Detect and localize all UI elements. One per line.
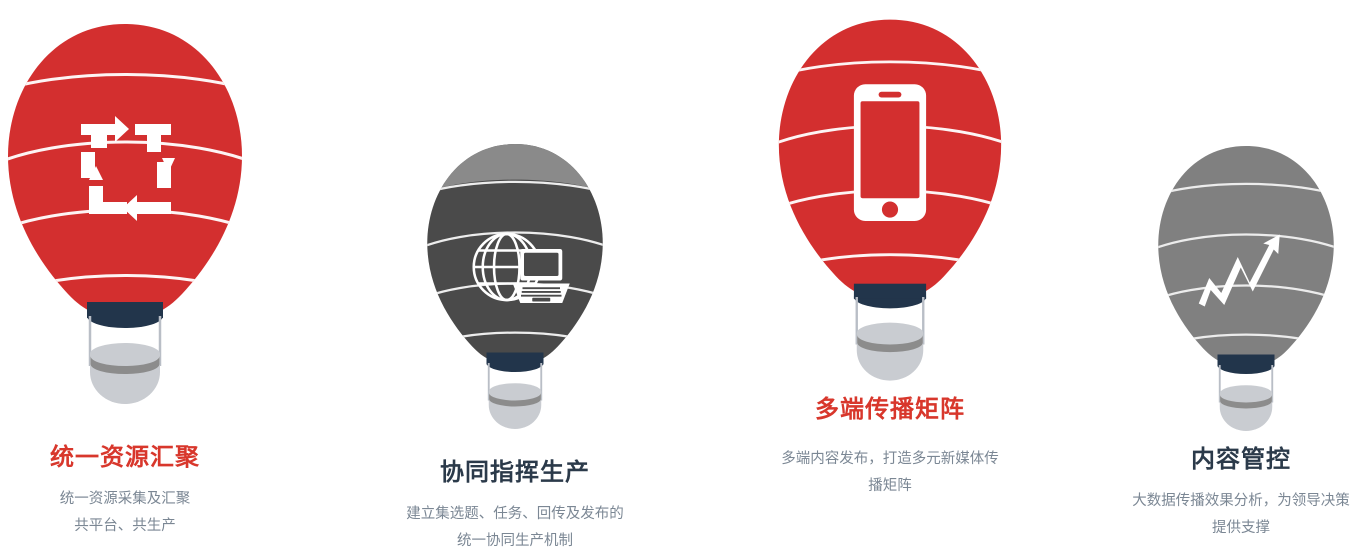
feature-caption: 内容管控 大数据传播效果分析，为领导决策 提供支撑 <box>1091 442 1371 542</box>
balloon-svg <box>390 138 640 438</box>
feature-description: 统一资源采集及汇聚 共平台、共生产 <box>0 486 250 540</box>
feature-description-line-2: 提供支撑 <box>1091 515 1371 542</box>
balloon-basket-rim <box>1220 385 1273 402</box>
feature-description-line-1: 统一资源采集及汇聚 <box>0 486 250 513</box>
feature-description-line-1: 多端内容发布，打造多元新媒体传 <box>740 446 1040 473</box>
feature-title: 统一资源汇聚 <box>0 440 250 476</box>
balloon-svg <box>765 12 1015 392</box>
laptop-glyph <box>513 249 570 303</box>
feature-description: 多端内容发布，打造多元新媒体传 播矩阵 <box>740 446 1040 500</box>
feature-description-line-2: 统一协同生产机制 <box>365 528 665 555</box>
hot-air-balloon-graphic <box>0 16 250 421</box>
feature-caption: 多端传播矩阵 多端内容发布，打造多元新媒体传 播矩阵 <box>740 392 1040 500</box>
balloon-basket-rim <box>489 383 542 400</box>
feature-card-unified-resource-aggregation[interactable]: 统一资源汇聚 统一资源采集及汇聚 共平台、共生产 <box>0 0 250 553</box>
feature-description-line-2: 播矩阵 <box>740 473 1040 500</box>
feature-description-line-2: 共平台、共生产 <box>0 513 250 540</box>
feature-title: 内容管控 <box>1091 442 1371 478</box>
balloon-svg <box>0 16 250 416</box>
feature-description-line-1: 建立集选题、任务、回传及发布的 <box>365 501 665 528</box>
hot-air-balloon-graphic <box>390 138 640 443</box>
feature-caption: 协同指挥生产 建立集选题、任务、回传及发布的 统一协同生产机制 <box>365 455 665 555</box>
feature-caption: 统一资源汇聚 统一资源采集及汇聚 共平台、共生产 <box>0 440 250 540</box>
balloon-basket-rim <box>90 343 160 365</box>
feature-card-collaborative-production[interactable]: 协同指挥生产 建立集选题、任务、回传及发布的 统一协同生产机制 <box>390 0 640 553</box>
hot-air-balloon-graphic <box>765 12 1015 397</box>
balloon-envelope <box>1158 146 1334 367</box>
balloon-envelope <box>8 24 242 318</box>
feature-title: 多端传播矩阵 <box>740 392 1040 428</box>
feature-card-content-governance[interactable]: 内容管控 大数据传播效果分析，为领导决策 提供支撑 <box>1121 0 1371 553</box>
balloon-svg <box>1121 140 1371 440</box>
smartphone-icon <box>854 84 926 221</box>
balloon-basket-rim <box>857 323 924 344</box>
hot-air-balloon-graphic <box>1121 140 1371 445</box>
feature-balloons-section: 统一资源汇聚 统一资源采集及汇聚 共平台、共生产 <box>0 0 1371 553</box>
feature-description: 建立集选题、任务、回传及发布的 统一协同生产机制 <box>365 501 665 555</box>
feature-card-multi-channel-matrix[interactable]: 多端传播矩阵 多端内容发布，打造多元新媒体传 播矩阵 <box>765 0 1015 553</box>
feature-title: 协同指挥生产 <box>365 455 665 491</box>
feature-description: 大数据传播效果分析，为领导决策 提供支撑 <box>1091 488 1371 542</box>
feature-description-line-1: 大数据传播效果分析，为领导决策 <box>1091 488 1371 515</box>
